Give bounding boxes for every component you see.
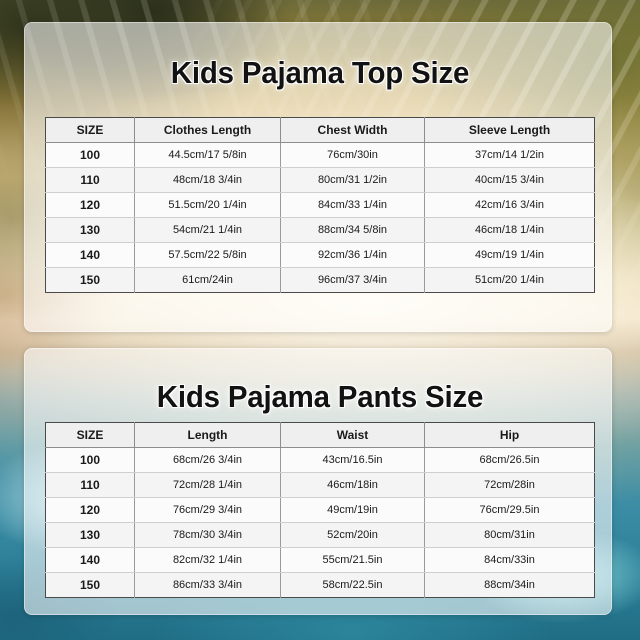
size-chart-root: Kids Pajama Top Size SIZE Clothes Length…: [0, 0, 640, 640]
column-header-hip: Hip: [425, 423, 595, 448]
table-row: 110 48cm/18 3/4in 80cm/31 1/2in 40cm/15 …: [46, 168, 595, 193]
column-header-waist: Waist: [281, 423, 425, 448]
cell-waist: 58cm/22.5in: [281, 573, 425, 598]
cell-sleeve-length: 37cm/14 1/2in: [425, 143, 595, 168]
cell-clothes-length: 57.5cm/22 5/8in: [135, 243, 281, 268]
cell-hip: 68cm/26.5in: [425, 448, 595, 473]
cell-waist: 52cm/20in: [281, 523, 425, 548]
table-row: 120 51.5cm/20 1/4in 84cm/33 1/4in 42cm/1…: [46, 193, 595, 218]
cell-length: 78cm/30 3/4in: [135, 523, 281, 548]
size-table-bottom: SIZE Length Waist Hip 100 68cm/26 3/4in …: [45, 422, 595, 598]
cell-size: 140: [46, 243, 135, 268]
column-header-sleeve-length: Sleeve Length: [425, 118, 595, 143]
cell-sleeve-length: 46cm/18 1/4in: [425, 218, 595, 243]
cell-waist: 43cm/16.5in: [281, 448, 425, 473]
cell-size: 150: [46, 268, 135, 293]
table-header-row: SIZE Length Waist Hip: [46, 423, 595, 448]
table-row: 140 57.5cm/22 5/8in 92cm/36 1/4in 49cm/1…: [46, 243, 595, 268]
table-row: 130 54cm/21 1/4in 88cm/34 5/8in 46cm/18 …: [46, 218, 595, 243]
cell-chest-width: 76cm/30in: [281, 143, 425, 168]
cell-size: 140: [46, 548, 135, 573]
cell-length: 68cm/26 3/4in: [135, 448, 281, 473]
table-row: 150 61cm/24in 96cm/37 3/4in 51cm/20 1/4i…: [46, 268, 595, 293]
cell-size: 100: [46, 143, 135, 168]
column-header-length: Length: [135, 423, 281, 448]
column-header-clothes-length: Clothes Length: [135, 118, 281, 143]
cell-sleeve-length: 49cm/19 1/4in: [425, 243, 595, 268]
column-header-chest-width: Chest Width: [281, 118, 425, 143]
cell-hip: 72cm/28in: [425, 473, 595, 498]
cell-length: 76cm/29 3/4in: [135, 498, 281, 523]
table-header-row: SIZE Clothes Length Chest Width Sleeve L…: [46, 118, 595, 143]
cell-size: 130: [46, 523, 135, 548]
table-row: 150 86cm/33 3/4in 58cm/22.5in 88cm/34in: [46, 573, 595, 598]
table-row: 110 72cm/28 1/4in 46cm/18in 72cm/28in: [46, 473, 595, 498]
cell-clothes-length: 48cm/18 3/4in: [135, 168, 281, 193]
cell-clothes-length: 44.5cm/17 5/8in: [135, 143, 281, 168]
cell-chest-width: 88cm/34 5/8in: [281, 218, 425, 243]
cell-hip: 80cm/31in: [425, 523, 595, 548]
cell-size: 120: [46, 498, 135, 523]
cell-length: 72cm/28 1/4in: [135, 473, 281, 498]
cell-size: 150: [46, 573, 135, 598]
cell-chest-width: 80cm/31 1/2in: [281, 168, 425, 193]
column-header-size: SIZE: [46, 118, 135, 143]
cell-size: 100: [46, 448, 135, 473]
table-row: 140 82cm/32 1/4in 55cm/21.5in 84cm/33in: [46, 548, 595, 573]
cell-hip: 76cm/29.5in: [425, 498, 595, 523]
column-header-size: SIZE: [46, 423, 135, 448]
cell-chest-width: 92cm/36 1/4in: [281, 243, 425, 268]
cell-waist: 46cm/18in: [281, 473, 425, 498]
page-title-top: Kids Pajama Top Size: [16, 55, 624, 91]
table-row: 100 44.5cm/17 5/8in 76cm/30in 37cm/14 1/…: [46, 143, 595, 168]
cell-size: 110: [46, 473, 135, 498]
cell-size: 110: [46, 168, 135, 193]
cell-hip: 84cm/33in: [425, 548, 595, 573]
cell-clothes-length: 61cm/24in: [135, 268, 281, 293]
cell-length: 86cm/33 3/4in: [135, 573, 281, 598]
cell-sleeve-length: 51cm/20 1/4in: [425, 268, 595, 293]
cell-waist: 55cm/21.5in: [281, 548, 425, 573]
page-title-bottom: Kids Pajama Pants Size: [16, 379, 624, 415]
cell-length: 82cm/32 1/4in: [135, 548, 281, 573]
cell-sleeve-length: 40cm/15 3/4in: [425, 168, 595, 193]
table-row: 120 76cm/29 3/4in 49cm/19in 76cm/29.5in: [46, 498, 595, 523]
cell-chest-width: 84cm/33 1/4in: [281, 193, 425, 218]
cell-clothes-length: 51.5cm/20 1/4in: [135, 193, 281, 218]
cell-clothes-length: 54cm/21 1/4in: [135, 218, 281, 243]
table-row: 130 78cm/30 3/4in 52cm/20in 80cm/31in: [46, 523, 595, 548]
cell-size: 130: [46, 218, 135, 243]
cell-hip: 88cm/34in: [425, 573, 595, 598]
cell-waist: 49cm/19in: [281, 498, 425, 523]
size-table-top: SIZE Clothes Length Chest Width Sleeve L…: [45, 117, 595, 293]
cell-chest-width: 96cm/37 3/4in: [281, 268, 425, 293]
table-row: 100 68cm/26 3/4in 43cm/16.5in 68cm/26.5i…: [46, 448, 595, 473]
cell-size: 120: [46, 193, 135, 218]
cell-sleeve-length: 42cm/16 3/4in: [425, 193, 595, 218]
